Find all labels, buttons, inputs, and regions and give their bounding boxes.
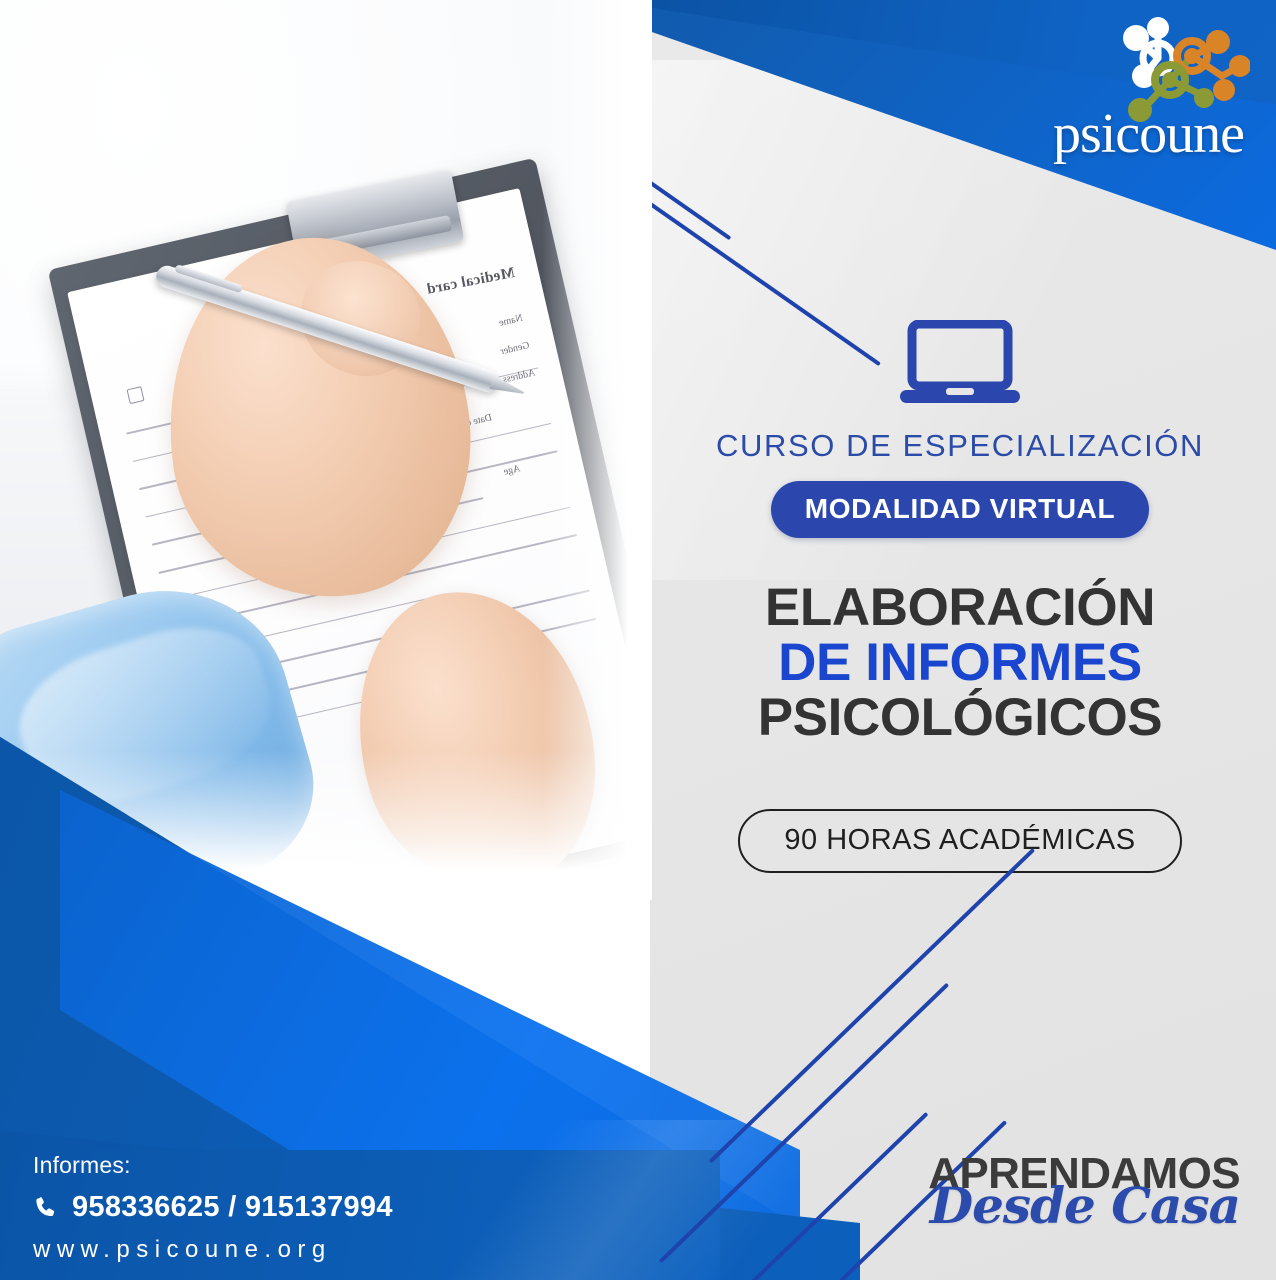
content-block: CURSO DE ESPECIALIZACIÓN MODALIDAD VIRTU… <box>660 320 1260 873</box>
slogan-lockup: APRENDAMOS Desde Casa <box>910 1152 1240 1262</box>
promo-poster: Medical card Name Date of birth Gender A… <box>0 0 1276 1280</box>
contact-block: Informes: 958336625 / 915137994 www.psic… <box>33 1152 393 1264</box>
form-checkbox <box>127 386 145 404</box>
course-title-line-2: DE INFORMES <box>660 635 1260 690</box>
contact-phone-row[interactable]: 958336625 / 915137994 <box>33 1191 393 1224</box>
modality-badge: MODALIDAD VIRTUAL <box>771 481 1149 538</box>
course-title-line-1: ELABORACIÓN <box>660 580 1260 635</box>
brand-logo: psicoune <box>1026 14 1256 174</box>
phone-icon <box>33 1195 58 1220</box>
contact-phones: 958336625 / 915137994 <box>72 1191 393 1224</box>
form-field-name: Name <box>498 313 524 329</box>
course-title: ELABORACIÓN DE INFORMES PSICOLÓGICOS <box>660 580 1260 745</box>
form-title: Medical card <box>425 265 516 299</box>
laptop-icon <box>898 320 1022 406</box>
brand-wordmark: psicoune <box>1053 106 1244 162</box>
academic-hours-badge: 90 HORAS ACADÉMICAS <box>738 809 1181 873</box>
course-photo: Medical card Name Date of birth Gender A… <box>0 0 652 900</box>
course-title-line-3: PSICOLÓGICOS <box>660 690 1260 745</box>
contact-website[interactable]: www.psicoune.org <box>33 1236 393 1264</box>
contact-label: Informes: <box>33 1152 393 1179</box>
course-kicker: CURSO DE ESPECIALIZACIÓN <box>660 428 1260 464</box>
slogan-line-2: Desde Casa <box>910 1180 1240 1233</box>
